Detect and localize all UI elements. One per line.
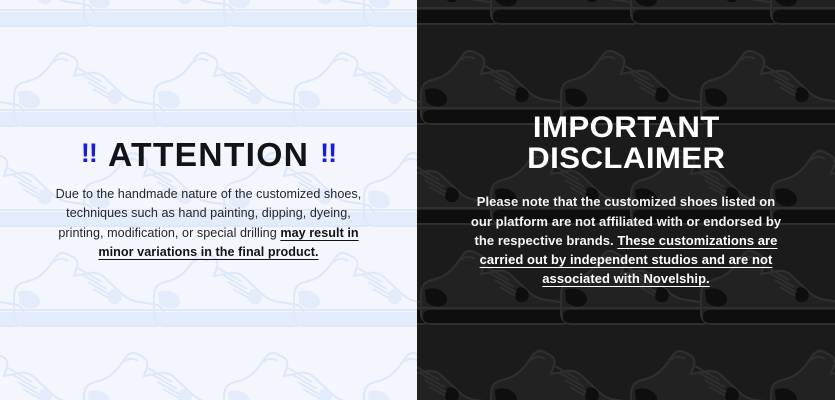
attention-heading: !! ATTENTION !! <box>81 138 336 171</box>
disclaimer-heading-line1: IMPORTANT <box>527 112 725 143</box>
disclaimer-content: IMPORTANT DISCLAIMER Please note that th… <box>417 0 835 400</box>
disclaimer-heading: IMPORTANT DISCLAIMER <box>527 112 725 174</box>
attention-panel: !! ATTENTION !! Due to the handmade natu… <box>0 0 417 400</box>
attention-body: Due to the handmade nature of the custom… <box>54 185 364 262</box>
attention-bangs-left: !! <box>81 140 97 167</box>
disclaimer-body: Please note that the customized shoes li… <box>466 192 786 288</box>
promo-banner: !! ATTENTION !! Due to the handmade natu… <box>0 0 835 400</box>
disclaimer-heading-line2: DISCLAIMER <box>527 143 725 174</box>
disclaimer-panel: IMPORTANT DISCLAIMER Please note that th… <box>417 0 835 400</box>
attention-heading-text: ATTENTION <box>108 138 309 171</box>
attention-content: !! ATTENTION !! Due to the handmade natu… <box>0 0 417 400</box>
attention-bangs-right: !! <box>320 140 336 167</box>
